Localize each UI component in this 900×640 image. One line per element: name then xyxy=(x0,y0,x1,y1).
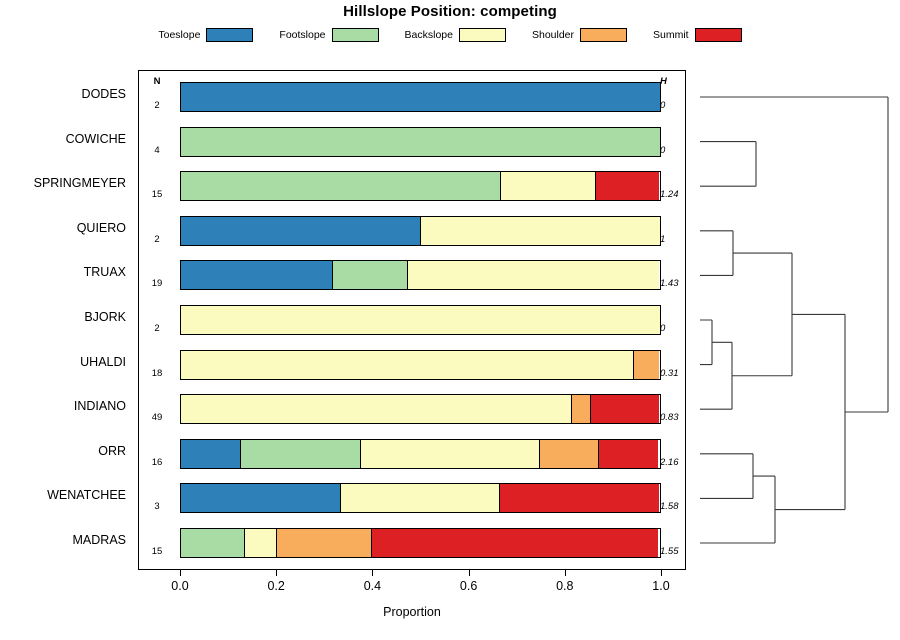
dendrogram-links xyxy=(700,97,888,543)
row-count: 3 xyxy=(143,501,171,512)
stacked-bar xyxy=(180,216,661,246)
bar-segment-backslope xyxy=(407,261,659,289)
bar-segment-backslope xyxy=(181,395,572,423)
chart-root: Hillslope Position: competing ToeslopeFo… xyxy=(0,0,900,640)
bar-segment-footslope xyxy=(181,529,245,557)
stacked-bar xyxy=(180,305,661,335)
bar-segment-toeslope xyxy=(181,261,332,289)
stacked-bar xyxy=(180,439,661,469)
legend-label: Footslope xyxy=(279,29,325,41)
legend: ToeslopeFootslopeBackslopeShoulderSummit xyxy=(0,26,900,44)
bar-segment-shoulder xyxy=(571,395,591,423)
x-axis-tick xyxy=(565,570,566,576)
bar-segment-backslope xyxy=(181,351,633,379)
row-count: 49 xyxy=(143,412,171,423)
bar-segment-backslope xyxy=(420,217,660,245)
x-axis-tick xyxy=(180,570,181,576)
legend-label: Summit xyxy=(653,29,689,41)
x-axis-title: Proportion xyxy=(138,605,686,619)
row-count: 19 xyxy=(143,278,171,289)
stacked-bar xyxy=(180,127,661,157)
row-count: 4 xyxy=(143,145,171,156)
stacked-bar xyxy=(180,82,661,112)
row-label-wenatchee: WENATCHEE xyxy=(0,488,126,502)
bar-segment-toeslope xyxy=(181,217,421,245)
x-axis-tick xyxy=(661,570,662,576)
bar-segment-footslope xyxy=(181,128,660,156)
bar-segment-footslope xyxy=(181,172,500,200)
row-label-springmeyer: SPRINGMEYER xyxy=(0,176,126,190)
bar-segment-shoulder xyxy=(276,529,372,557)
legend-swatch-footslope xyxy=(332,28,379,42)
row-label-cowiche: COWICHE xyxy=(0,132,126,146)
x-axis-tick-label: 0.4 xyxy=(342,579,402,593)
row-count: 15 xyxy=(143,189,171,200)
x-axis-tick-label: 0.0 xyxy=(150,579,210,593)
x-axis-tick-label: 1.0 xyxy=(631,579,691,593)
x-axis-tick-label: 0.8 xyxy=(535,579,595,593)
row-count: 2 xyxy=(143,100,171,111)
x-axis-tick-label: 0.6 xyxy=(439,579,499,593)
legend-label: Shoulder xyxy=(532,29,574,41)
legend-label: Toeslope xyxy=(158,29,200,41)
row-count: 18 xyxy=(143,368,171,379)
row-count: 2 xyxy=(143,323,171,334)
stacked-bar xyxy=(180,171,661,201)
legend-swatch-backslope xyxy=(459,28,506,42)
bar-segment-backslope xyxy=(181,306,660,334)
dendrogram-svg xyxy=(690,70,900,570)
row-count: 2 xyxy=(143,234,171,245)
row-count: 15 xyxy=(143,546,171,557)
page-title: Hillslope Position: competing xyxy=(0,3,900,20)
bar-segment-backslope xyxy=(500,172,596,200)
legend-label: Backslope xyxy=(405,29,453,41)
x-axis-tick-label: 0.2 xyxy=(246,579,306,593)
x-axis-tick xyxy=(469,570,470,576)
legend-swatch-toeslope xyxy=(206,28,253,42)
legend-item-footslope: Footslope xyxy=(279,28,378,42)
bar-segment-backslope xyxy=(244,529,276,557)
row-label-bjork: BJORK xyxy=(0,310,126,324)
bar-segment-footslope xyxy=(240,440,360,468)
legend-item-backslope: Backslope xyxy=(405,28,506,42)
bar-segment-summit xyxy=(499,484,659,512)
stacked-bar xyxy=(180,260,661,290)
stacked-bar xyxy=(180,350,661,380)
bar-segment-toeslope xyxy=(181,440,241,468)
bar-segment-footslope xyxy=(332,261,408,289)
legend-item-toeslope: Toeslope xyxy=(158,28,253,42)
bar-segment-shoulder xyxy=(539,440,599,468)
stacked-bar xyxy=(180,528,661,558)
row-label-uhaldi: UHALDI xyxy=(0,355,126,369)
bar-segment-summit xyxy=(595,172,659,200)
legend-item-summit: Summit xyxy=(653,28,742,42)
bar-segment-toeslope xyxy=(181,83,660,111)
bar-segment-summit xyxy=(598,440,658,468)
x-axis-tick xyxy=(372,570,373,576)
bar-segment-summit xyxy=(590,395,658,423)
legend-swatch-shoulder xyxy=(580,28,627,42)
row-count: 16 xyxy=(143,457,171,468)
bar-segment-summit xyxy=(371,529,658,557)
bar-segment-shoulder xyxy=(633,351,660,379)
row-label-madras: MADRAS xyxy=(0,533,126,547)
row-label-indiano: INDIANO xyxy=(0,399,126,413)
stacked-bar xyxy=(180,483,661,513)
row-label-quiero: QUIERO xyxy=(0,221,126,235)
bar-segment-backslope xyxy=(360,440,540,468)
row-label-dodes: DODES xyxy=(0,87,126,101)
dendrogram xyxy=(690,70,900,570)
bar-segment-toeslope xyxy=(181,484,341,512)
x-axis-tick xyxy=(276,570,277,576)
legend-swatch-summit xyxy=(695,28,742,42)
bar-segment-backslope xyxy=(340,484,500,512)
row-label-orr: ORR xyxy=(0,444,126,458)
legend-item-shoulder: Shoulder xyxy=(532,28,627,42)
row-label-truax: TRUAX xyxy=(0,265,126,279)
stacked-bar xyxy=(180,394,661,424)
